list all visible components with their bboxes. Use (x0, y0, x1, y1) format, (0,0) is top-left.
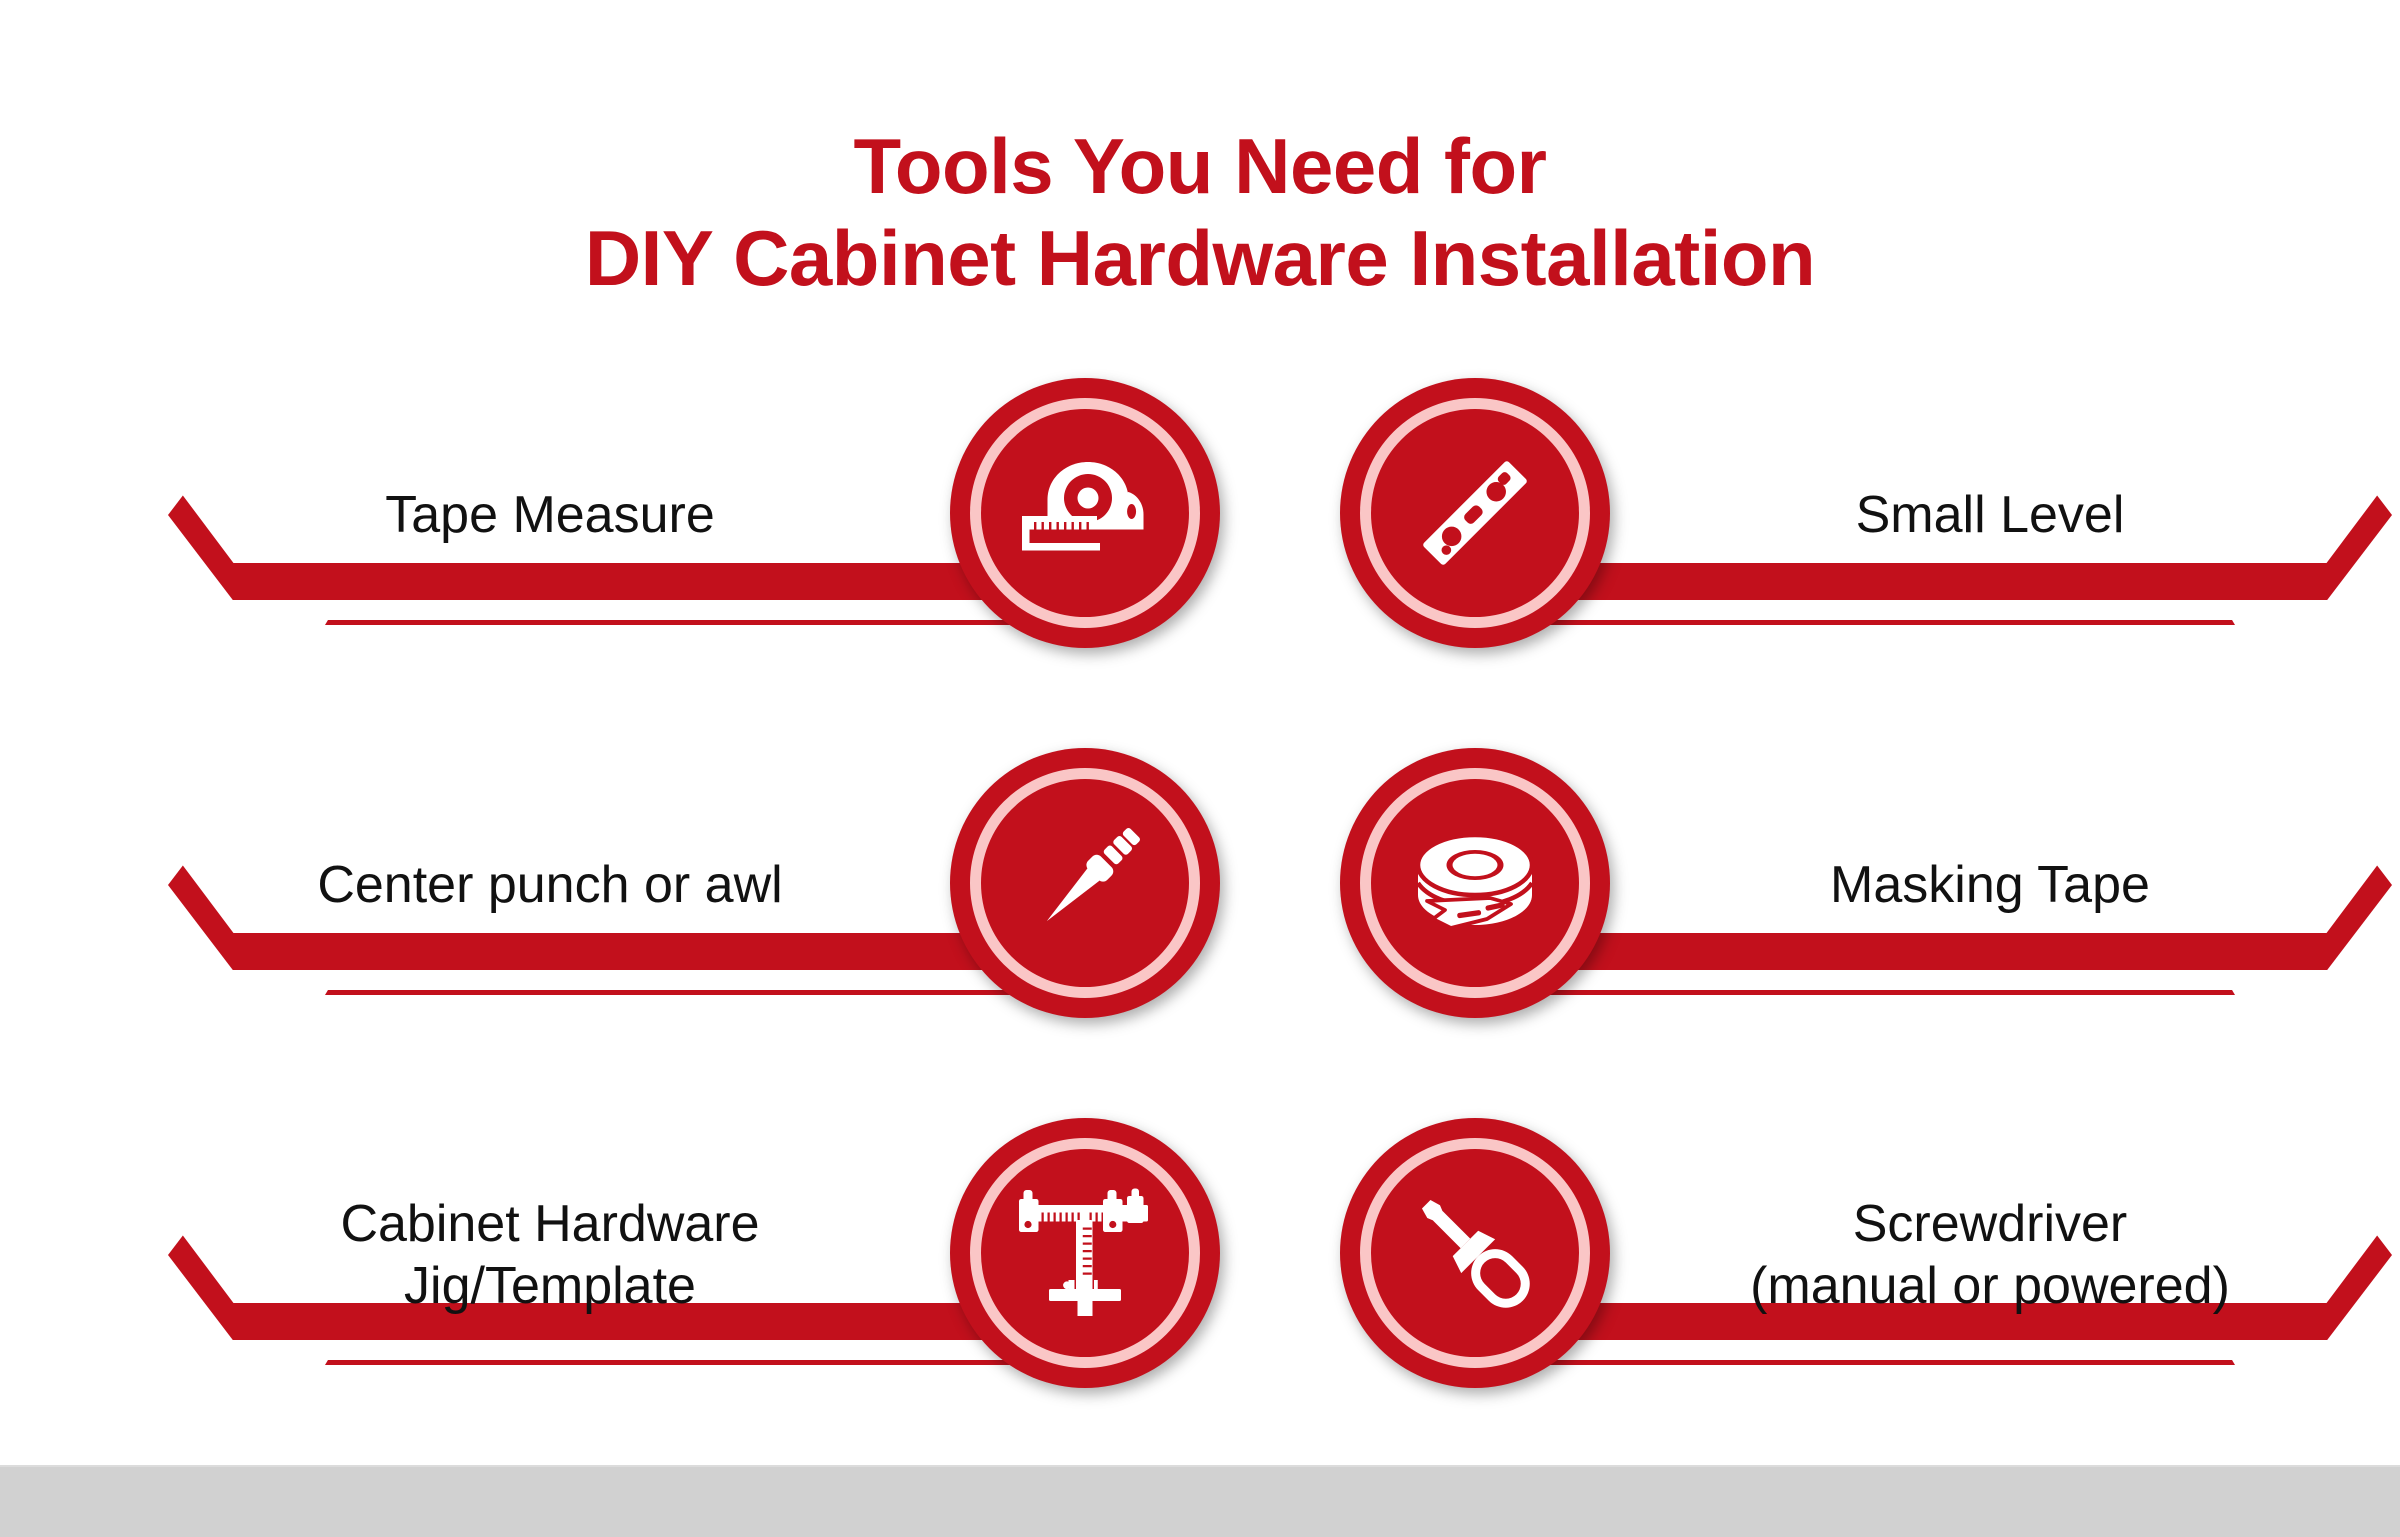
tools-grid: Tape Measure (0, 400, 2400, 1410)
tool-label: Cabinet Hardware Jig/Template (210, 1178, 890, 1333)
tool-label: Small Level (1650, 438, 2330, 593)
cabinet-jig-icon (995, 1163, 1175, 1343)
tool-label: Tape Measure (210, 438, 890, 593)
tool-card-screwdriver[interactable]: Screwdriver (manual or powered) (1330, 1140, 2400, 1440)
page-title: Tools You Need for DIY Cabinet Hardware … (0, 120, 2400, 304)
tool-badge[interactable] (1340, 378, 1610, 648)
tool-card-center-punch[interactable]: Center punch or awl (150, 770, 1230, 1070)
tool-label: Center punch or awl (210, 808, 890, 963)
title-line-1: Tools You Need for (0, 120, 2400, 212)
tool-card-cabinet-jig[interactable]: Cabinet Hardware Jig/Template (150, 1140, 1230, 1440)
tool-badge[interactable] (950, 378, 1220, 648)
awl-icon (995, 793, 1175, 973)
tool-card-tape-measure[interactable]: Tape Measure (150, 400, 1230, 700)
footer-strip (0, 1465, 2400, 1537)
tool-label: Masking Tape (1650, 808, 2330, 963)
tool-badge[interactable] (1340, 748, 1610, 1018)
tool-card-masking-tape[interactable]: Masking Tape (1330, 770, 2400, 1070)
tool-badge[interactable] (950, 1118, 1220, 1388)
spirit-level-icon (1385, 423, 1565, 603)
tool-card-small-level[interactable]: Small Level (1330, 400, 2400, 700)
tool-label: Screwdriver (manual or powered) (1650, 1178, 2330, 1333)
screwdriver-icon (1385, 1163, 1565, 1343)
tape-measure-icon (995, 423, 1175, 603)
title-line-2: DIY Cabinet Hardware Installation (0, 212, 2400, 304)
infographic-poster: Tools You Need for DIY Cabinet Hardware … (0, 0, 2400, 1537)
tool-badge[interactable] (950, 748, 1220, 1018)
tool-badge[interactable] (1340, 1118, 1610, 1388)
tape-roll-icon (1385, 793, 1565, 973)
